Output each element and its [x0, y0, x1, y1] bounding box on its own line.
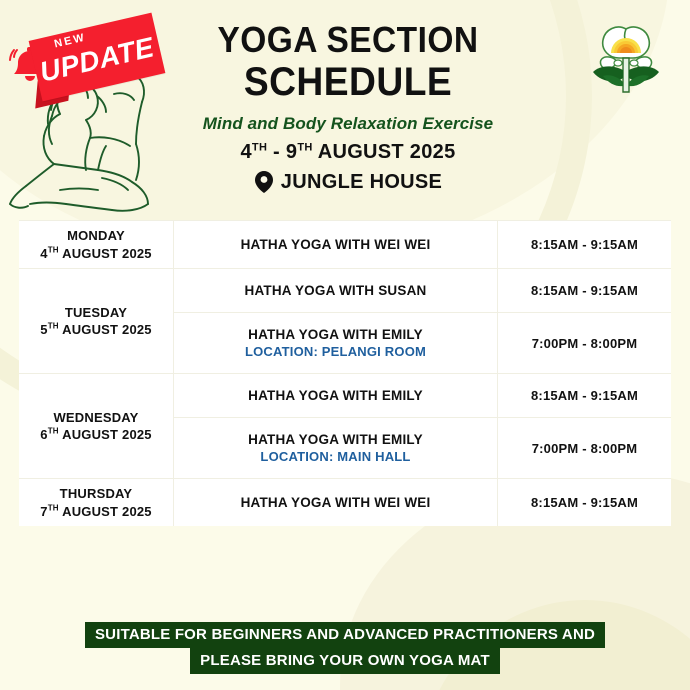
class-name: HATHA YOGA WITH SUSAN	[245, 283, 427, 298]
class-cell: HATHA YOGA WITH EMILY LOCATION: PELANGI …	[174, 313, 498, 373]
class-cell: HATHA YOGA WITH EMILY LOCATION: MAIN HAL…	[174, 418, 498, 478]
location-pin-icon	[254, 170, 274, 194]
list-item: HATHA YOGA WITH SUSAN 8:15AM - 9:15AM	[174, 269, 671, 313]
time-cell: 8:15AM - 9:15AM	[498, 479, 671, 526]
day-name: MONDAY	[67, 227, 125, 245]
class-name: HATHA YOGA WITH WEI WEI	[241, 237, 431, 252]
date-month-year: AUGUST 2025	[318, 141, 456, 163]
class-cell: HATHA YOGA WITH EMILY	[174, 374, 498, 417]
day-cell: TUESDAY 5TH AUGUST 2025	[19, 269, 174, 373]
footer-line-2: PLEASE BRING YOUR OWN YOGA MAT	[190, 648, 500, 674]
day-date: 6TH AUGUST 2025	[40, 426, 151, 444]
class-cell: HATHA YOGA WITH SUSAN	[174, 269, 498, 312]
schedule-table: MONDAY 4TH AUGUST 2025 HATHA YOGA WITH W…	[19, 220, 671, 526]
day-name: THURSDAY	[60, 485, 133, 503]
table-row: THURSDAY 7TH AUGUST 2025 HATHA YOGA WITH…	[19, 479, 671, 526]
table-row: MONDAY 4TH AUGUST 2025 HATHA YOGA WITH W…	[19, 221, 671, 269]
day-name: TUESDAY	[65, 304, 127, 322]
list-item: HATHA YOGA WITH EMILY LOCATION: PELANGI …	[174, 313, 671, 373]
session-list: HATHA YOGA WITH EMILY 8:15AM - 9:15AM HA…	[174, 374, 671, 478]
class-cell: HATHA YOGA WITH WEI WEI	[174, 221, 498, 268]
list-item: HATHA YOGA WITH WEI WEI 8:15AM - 9:15AM	[174, 479, 671, 526]
class-name: HATHA YOGA WITH WEI WEI	[241, 495, 431, 510]
day-date: 7TH AUGUST 2025	[40, 503, 151, 521]
day-date: 5TH AUGUST 2025	[40, 321, 151, 339]
poster-canvas: NEW UPDATE YOGA SECTION SCHEDUL	[0, 0, 690, 690]
page-title-line2: SCHEDULE	[181, 62, 516, 102]
list-item: HATHA YOGA WITH EMILY LOCATION: MAIN HAL…	[174, 418, 671, 478]
table-row: WEDNESDAY 6TH AUGUST 2025 HATHA YOGA WIT…	[19, 374, 671, 479]
venue-name: JUNGLE HOUSE	[281, 171, 442, 194]
date-end-ordinal: TH	[297, 141, 312, 153]
date-end-number: 9	[286, 141, 297, 163]
date-separator: -	[273, 141, 280, 163]
time-cell: 7:00PM - 8:00PM	[498, 418, 671, 478]
day-date: 4TH AUGUST 2025	[40, 245, 151, 263]
class-location: LOCATION: MAIN HALL	[260, 449, 410, 464]
session-list: HATHA YOGA WITH WEI WEI 8:15AM - 9:15AM	[174, 479, 671, 526]
date-range: 4TH - 9TH AUGUST 2025	[168, 141, 528, 164]
table-row: TUESDAY 5TH AUGUST 2025 HATHA YOGA WITH …	[19, 269, 671, 374]
date-start-number: 4	[240, 141, 251, 163]
date-start-ordinal: TH	[252, 141, 267, 153]
session-list: HATHA YOGA WITH WEI WEI 8:15AM - 9:15AM	[174, 221, 671, 268]
time-cell: 8:15AM - 9:15AM	[498, 269, 671, 312]
footer-line-1: SUITABLE FOR BEGINNERS AND ADVANCED PRAC…	[85, 622, 605, 648]
new-update-badge: NEW UPDATE	[6, 18, 166, 123]
class-cell: HATHA YOGA WITH WEI WEI	[174, 479, 498, 526]
page-title-line1: YOGA SECTION	[181, 22, 516, 58]
flower-sunrise-logo	[587, 20, 665, 96]
list-item: HATHA YOGA WITH WEI WEI 8:15AM - 9:15AM	[174, 221, 671, 268]
venue-row: JUNGLE HOUSE	[168, 170, 528, 194]
class-name: HATHA YOGA WITH EMILY	[248, 327, 423, 342]
session-list: HATHA YOGA WITH SUSAN 8:15AM - 9:15AM HA…	[174, 269, 671, 373]
class-name: HATHA YOGA WITH EMILY	[248, 432, 423, 447]
time-cell: 7:00PM - 8:00PM	[498, 313, 671, 373]
day-cell: MONDAY 4TH AUGUST 2025	[19, 221, 174, 268]
time-cell: 8:15AM - 9:15AM	[498, 221, 671, 268]
day-name: WEDNESDAY	[53, 409, 138, 427]
class-location: LOCATION: PELANGI ROOM	[245, 344, 426, 359]
list-item: HATHA YOGA WITH EMILY 8:15AM - 9:15AM	[174, 374, 671, 418]
day-cell: WEDNESDAY 6TH AUGUST 2025	[19, 374, 174, 478]
time-cell: 8:15AM - 9:15AM	[498, 374, 671, 417]
footer-banner: SUITABLE FOR BEGINNERS AND ADVANCED PRAC…	[0, 622, 690, 674]
page-subtitle: Mind and Body Relaxation Exercise	[168, 114, 528, 134]
day-cell: THURSDAY 7TH AUGUST 2025	[19, 479, 174, 526]
class-name: HATHA YOGA WITH EMILY	[248, 388, 423, 403]
poster-header: YOGA SECTION SCHEDULE Mind and Body Rela…	[168, 22, 528, 194]
